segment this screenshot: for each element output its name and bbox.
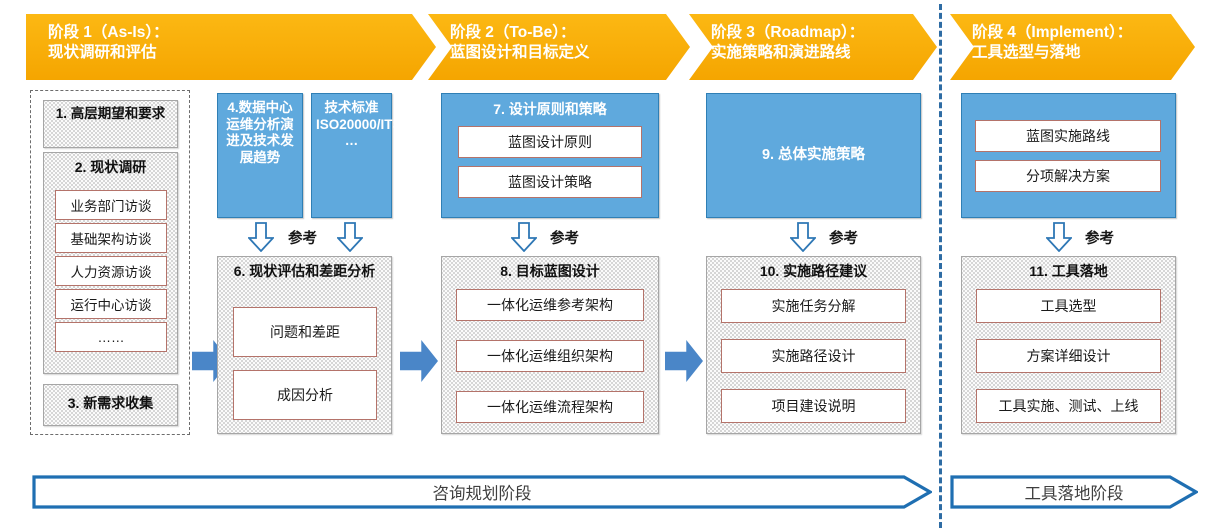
- block-2-title: 2. 现状调研: [44, 153, 177, 176]
- phase-3-line1: 阶段 3（Roadmap）：: [711, 23, 923, 43]
- phase-2-line2: 蓝图设计和目标定义: [450, 43, 676, 63]
- block-10-item-2[interactable]: 实施路径设计: [721, 339, 906, 373]
- block-10-title: 10. 实施路径建议: [707, 257, 920, 280]
- reference-down-arrow-2a: [248, 222, 274, 252]
- block-2-item-3[interactable]: 人力资源访谈: [55, 256, 167, 286]
- block-3-new-requirements[interactable]: 3. 新需求收集: [43, 384, 178, 426]
- bottom-banner-tooling-label: 工具落地阶段: [1025, 480, 1124, 504]
- phase-banner-1[interactable]: 阶段 1（As-Is）： 现状调研和评估: [26, 14, 436, 80]
- bottom-banner-tooling[interactable]: 工具落地阶段: [950, 474, 1198, 510]
- flow-arrow-3: [665, 340, 703, 382]
- block-11-item-3[interactable]: 工具实施、测试、上线: [976, 389, 1161, 423]
- block-8-item-1[interactable]: 一体化运维参考架构: [456, 289, 644, 321]
- block-2-item-4[interactable]: 运行中心访谈: [55, 289, 167, 319]
- block-1-expectations[interactable]: 1. 高层期望和要求: [43, 100, 178, 148]
- phase-banner-2[interactable]: 阶段 2（To-Be）： 蓝图设计和目标定义: [428, 14, 690, 80]
- reference-down-arrow-3: [511, 222, 537, 252]
- phase-4-line2: 工具选型与落地: [972, 43, 1181, 63]
- block-11-title: 11. 工具落地: [962, 257, 1175, 280]
- block-7-item-2[interactable]: 蓝图设计策略: [458, 166, 642, 198]
- phase-banner-4[interactable]: 阶段 4（Implement）： 工具选型与落地: [950, 14, 1195, 80]
- block-2-item-5[interactable]: ……: [55, 322, 167, 352]
- diagram-canvas: 阶段 1（As-Is）： 现状调研和评估 阶段 2（To-Be）： 蓝图设计和目…: [0, 0, 1217, 530]
- block-10-item-1[interactable]: 实施任务分解: [721, 289, 906, 323]
- reference-down-arrow-5: [1046, 222, 1072, 252]
- block-2-item-1[interactable]: 业务部门访谈: [55, 190, 167, 220]
- bottom-banner-consulting-label: 咨询规划阶段: [433, 480, 532, 504]
- block-6-item-1[interactable]: 问题和差距: [233, 307, 377, 357]
- block-8-title: 8. 目标蓝图设计: [442, 257, 658, 280]
- reference-label-4: 参考: [829, 227, 858, 248]
- reference-label-5: 参考: [1085, 227, 1114, 248]
- phase-banner-3[interactable]: 阶段 3（Roadmap）： 实施策略和演进路线: [689, 14, 937, 80]
- phase-3-line2: 实施策略和演进路线: [711, 43, 923, 63]
- reference-label-2: 参考: [288, 227, 317, 248]
- flow-arrow-2: [400, 340, 438, 382]
- reference-label-3: 参考: [550, 227, 579, 248]
- reference-down-arrow-2b: [337, 222, 363, 252]
- block-11-item-2[interactable]: 方案详细设计: [976, 339, 1161, 373]
- block-4-title: 4.数据中心运维分析演进及技术发展趋势: [218, 94, 302, 167]
- block-9-overall-strategy[interactable]: 9. 总体实施策略: [706, 93, 921, 218]
- phase-4-line1: 阶段 4（Implement）：: [972, 23, 1181, 43]
- block-3-title: 3. 新需求收集: [44, 385, 177, 412]
- column5-blue-item-2[interactable]: 分项解决方案: [975, 160, 1161, 192]
- block-4-dc-ops-trends[interactable]: 4.数据中心运维分析演进及技术发展趋势: [217, 93, 303, 218]
- phase-group-divider: [939, 4, 942, 528]
- column5-blue-item-1[interactable]: 蓝图实施路线: [975, 120, 1161, 152]
- block-8-item-3[interactable]: 一体化运维流程架构: [456, 391, 644, 423]
- block-tech-standards-title: 技术标准ISO20000/ITSS/ITIL… …: [312, 94, 391, 150]
- block-tech-standards[interactable]: 技术标准ISO20000/ITSS/ITIL… …: [311, 93, 392, 218]
- block-blueprint-implementation[interactable]: [961, 93, 1176, 218]
- bottom-banner-consulting[interactable]: 咨询规划阶段: [32, 474, 932, 510]
- block-10-item-3[interactable]: 项目建设说明: [721, 389, 906, 423]
- block-2-item-2[interactable]: 基础架构访谈: [55, 223, 167, 253]
- block-1-title: 1. 高层期望和要求: [44, 101, 177, 122]
- block-6-item-2[interactable]: 成因分析: [233, 370, 377, 420]
- block-11-item-1[interactable]: 工具选型: [976, 289, 1161, 323]
- phase-1-line2: 现状调研和评估: [48, 43, 422, 63]
- phase-2-line1: 阶段 2（To-Be）：: [450, 23, 676, 43]
- block-8-item-2[interactable]: 一体化运维组织架构: [456, 340, 644, 372]
- block-6-title: 6. 现状评估和差距分析: [218, 257, 391, 280]
- phase-1-line1: 阶段 1（As-Is）：: [48, 23, 422, 43]
- block-9-title: 9. 总体实施策略: [707, 147, 920, 165]
- block-7-item-1[interactable]: 蓝图设计原则: [458, 126, 642, 158]
- block-7-title: 7. 设计原则和策略: [442, 94, 658, 118]
- reference-down-arrow-4: [790, 222, 816, 252]
